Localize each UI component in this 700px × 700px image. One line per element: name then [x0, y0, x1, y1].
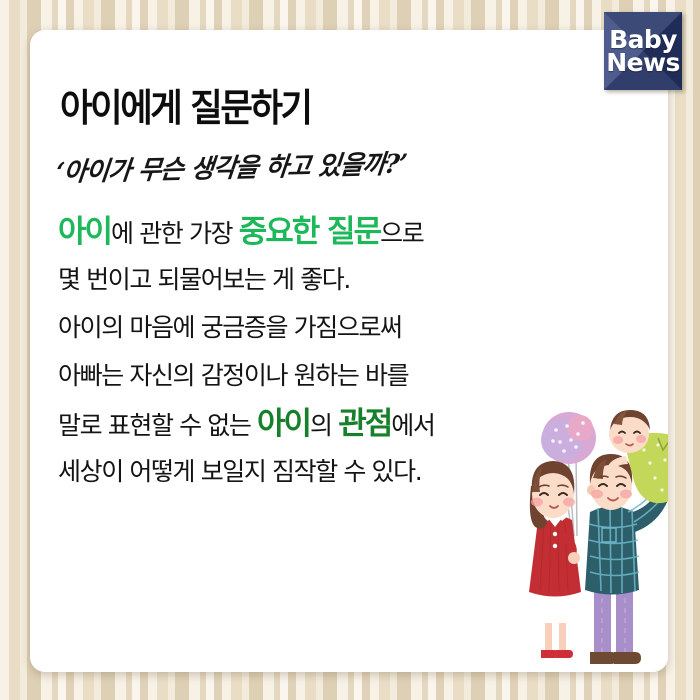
highlight-dark: 관점	[338, 406, 391, 442]
body-line: 말로 표현할 수 없는 아이의 관점에서	[58, 400, 558, 448]
logo-text: Baby News	[604, 12, 682, 90]
body-line: 아이에 관한 가장 중요한 질문으로	[58, 208, 558, 256]
babynews-logo[interactable]: Baby News	[604, 12, 682, 90]
content-card: 아이에게 질문하기 ‘아이가 무슨 생각을 하고 있을까?’ 아이에 관한 가장…	[30, 30, 668, 672]
body-text: 의	[310, 411, 338, 440]
logo-line-news: News	[606, 51, 679, 75]
highlight-bright: 중요한 질문	[239, 214, 380, 250]
body-line: 아이의 마음에 궁금증을 가짐으로써	[58, 304, 558, 352]
body-line: 세상이 어떻게 보일지 짐작할 수 있다.	[58, 448, 558, 496]
highlight-bright: 아이	[58, 214, 111, 250]
body-text: 몇 번이고 되물어보는 게 좋다.	[58, 265, 350, 294]
page-title: 아이에게 질문하기	[60, 77, 311, 132]
body-text: 으로	[380, 219, 423, 248]
body-text: 세상이 어떻게 보일지 짐작할 수 있다.	[58, 457, 421, 486]
highlight-dark: 아이	[257, 406, 310, 442]
body-text: 에서	[391, 411, 434, 440]
family-illustration	[498, 408, 668, 672]
body-line: 아빠는 자신의 감정이나 원하는 바를	[58, 352, 558, 400]
body-text: 에 관한 가장	[111, 219, 239, 248]
body-text: 말로 표현할 수 없는	[58, 411, 257, 440]
body-text: 아빠는 자신의 감정이나 원하는 바를	[58, 361, 408, 390]
body-text: 아이의 마음에 궁금증을 가짐으로써	[58, 313, 402, 342]
body-copy: 아이에 관한 가장 중요한 질문으로몇 번이고 되물어보는 게 좋다.아이의 마…	[58, 208, 558, 496]
handwritten-quote: ‘아이가 무슨 생각을 하고 있을까?’	[54, 143, 408, 189]
body-line: 몇 번이고 되물어보는 게 좋다.	[58, 256, 558, 304]
